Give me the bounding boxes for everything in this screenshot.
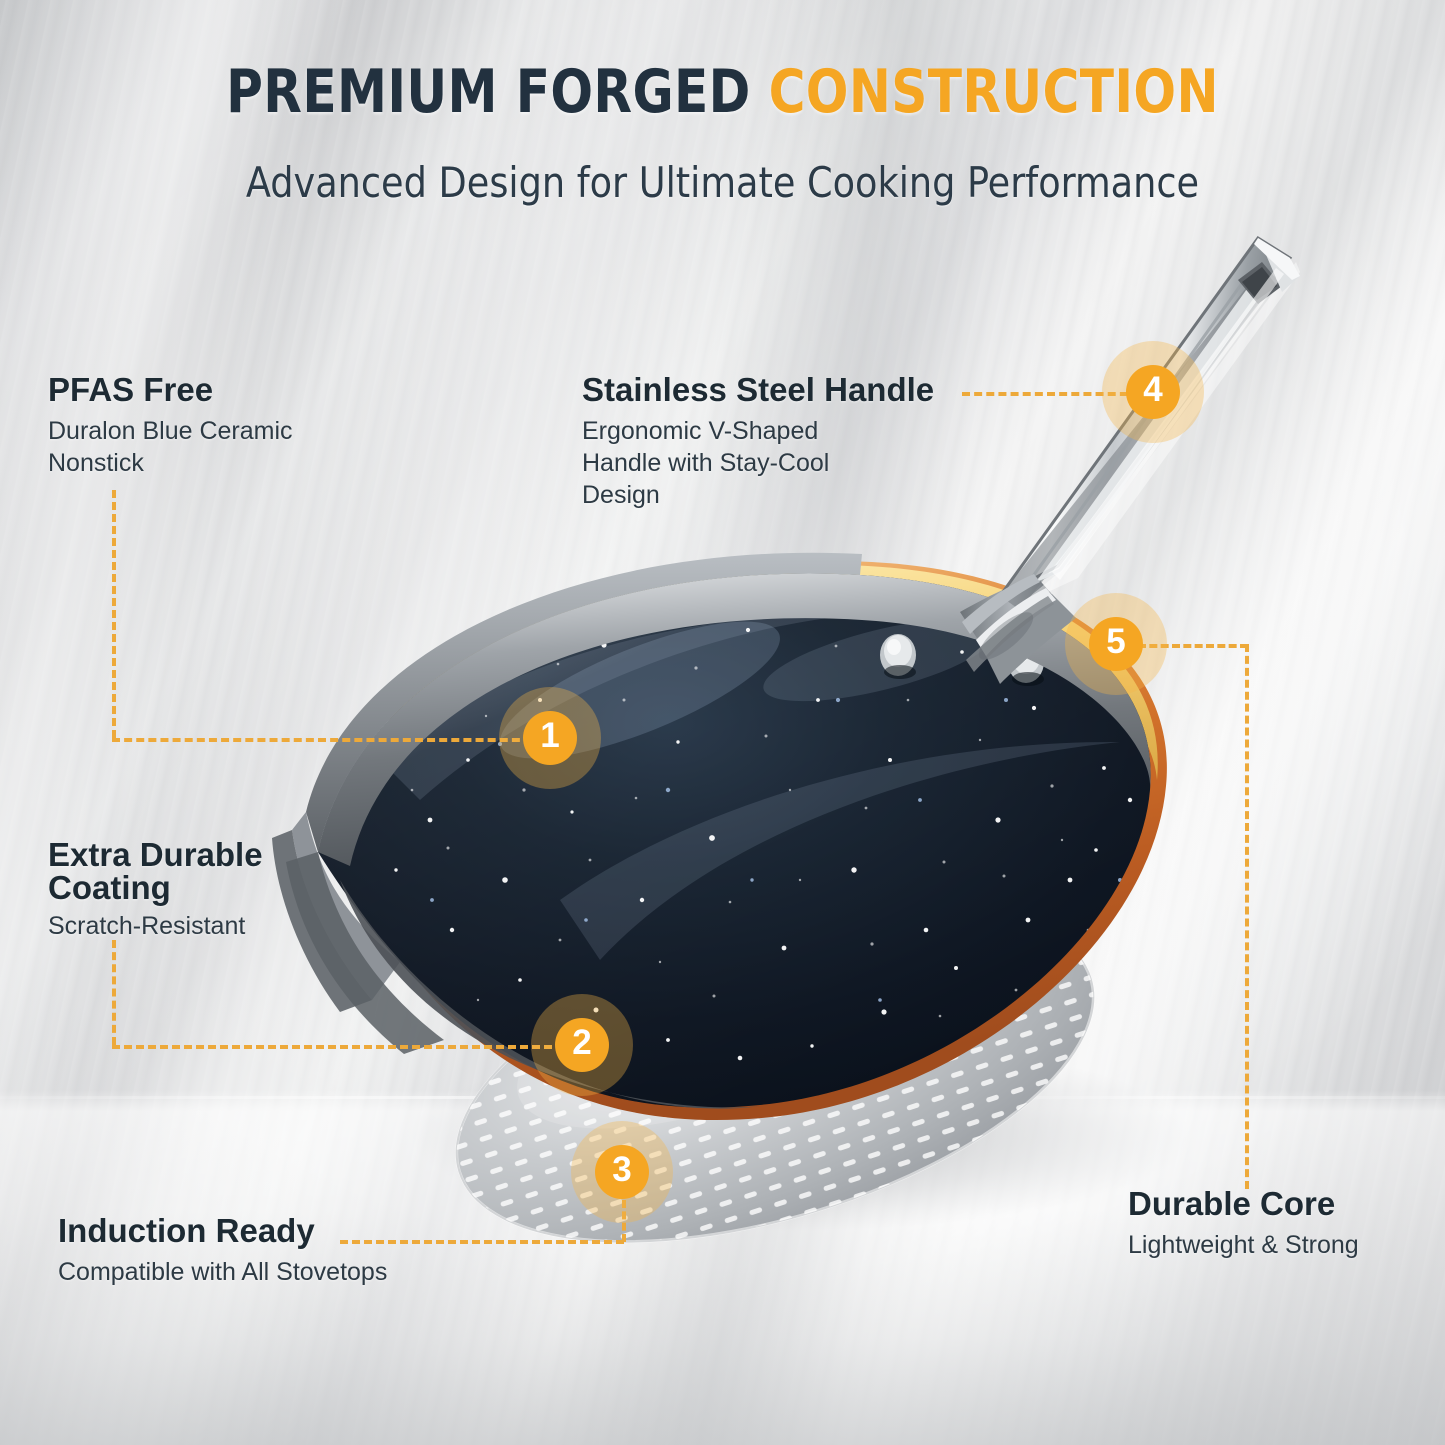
- callout-4-subtitle: Ergonomic V-Shaped Handle with Stay-Cool…: [582, 415, 934, 511]
- hotspot-badge-2-number: 2: [572, 1023, 591, 1063]
- callout-3-subtitle: Compatible with All Stovetops: [58, 1256, 387, 1288]
- callout-1-subtitle-line2: Nonstick: [48, 447, 293, 479]
- callout-stainless-steel-handle: Stainless Steel Handle Ergonomic V-Shape…: [582, 372, 934, 511]
- callout-induction-ready: Induction Ready Compatible with All Stov…: [58, 1213, 387, 1288]
- stainless-steel-handle: [960, 238, 1300, 684]
- callout-4-subtitle-line2: Handle with Stay-Cool: [582, 447, 934, 479]
- callout-5-title: Durable Core: [1128, 1186, 1359, 1223]
- callout-extra-durable-coating: Extra Durable Coating Scratch-Resistant: [48, 838, 263, 942]
- hotspot-badge-5[interactable]: 5: [1089, 617, 1143, 671]
- callout-4-subtitle-line3: Design: [582, 479, 934, 511]
- connector-3-vertical: [622, 1200, 626, 1242]
- connector-2-horizontal: [112, 1045, 564, 1049]
- callout-1-title: PFAS Free: [48, 372, 293, 409]
- callout-2-title-line2: Coating: [48, 871, 263, 904]
- callout-4-subtitle-line1: Ergonomic V-Shaped: [582, 415, 934, 447]
- page-title: PREMIUM FORGED CONSTRUCTION: [0, 62, 1445, 123]
- page-subtitle: Advanced Design for Ultimate Cooking Per…: [22, 158, 1424, 207]
- hotspot-badge-3-number: 3: [612, 1150, 631, 1190]
- title-part-accent: CONSTRUCTION: [769, 57, 1219, 127]
- infographic-canvas: PREMIUM FORGED CONSTRUCTION Advanced Des…: [0, 0, 1445, 1445]
- callout-3-title: Induction Ready: [58, 1213, 387, 1250]
- callout-2-subtitle: Scratch-Resistant: [48, 910, 263, 942]
- callout-1-subtitle: Duralon Blue Ceramic Nonstick: [48, 415, 293, 479]
- connector-5-horizontal: [1138, 644, 1248, 648]
- connector-1-vertical: [112, 490, 116, 738]
- connector-2-vertical: [112, 940, 116, 1045]
- hotspot-badge-1[interactable]: 1: [523, 711, 577, 765]
- connector-4-horizontal: [962, 392, 1140, 396]
- hotspot-badge-4[interactable]: 4: [1126, 365, 1180, 419]
- callout-2-title-line1: Extra Durable: [48, 838, 263, 871]
- hotspot-badge-4-number: 4: [1143, 370, 1162, 410]
- connector-5-vertical: [1245, 644, 1249, 1189]
- hotspot-badge-5-number: 5: [1106, 622, 1125, 662]
- title-part-primary: PREMIUM FORGED: [226, 57, 751, 127]
- hotspot-badge-2[interactable]: 2: [555, 1018, 609, 1072]
- callout-5-subtitle: Lightweight & Strong: [1128, 1229, 1359, 1261]
- hotspot-badge-3[interactable]: 3: [595, 1145, 649, 1199]
- callout-pfas-free: PFAS Free Duralon Blue Ceramic Nonstick: [48, 372, 293, 479]
- hotspot-badge-1-number: 1: [540, 716, 559, 756]
- callout-durable-core: Durable Core Lightweight & Strong: [1128, 1186, 1359, 1261]
- connector-1-horizontal: [112, 738, 532, 742]
- callout-4-title: Stainless Steel Handle: [582, 372, 934, 409]
- callout-2-title: Extra Durable Coating: [48, 838, 263, 904]
- callout-1-subtitle-line1: Duralon Blue Ceramic: [48, 415, 293, 447]
